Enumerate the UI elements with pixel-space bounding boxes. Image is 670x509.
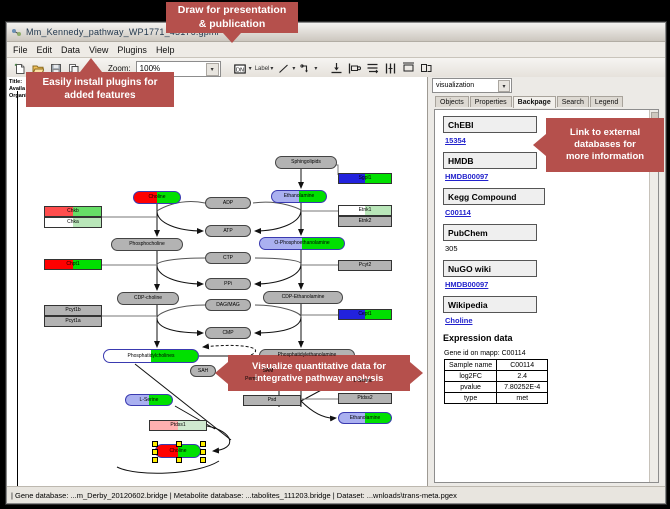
- metabolite-label-adp: ADP: [223, 201, 233, 206]
- metabolite-node-cdpeth[interactable]: CDP-Ethanolamine: [263, 291, 343, 304]
- table-row: pvalue 7.80252E-4: [445, 382, 548, 393]
- gene-id-line: Gene id on mapp: C00114: [444, 350, 650, 357]
- gene-label-pcyt2: Pcyt2: [359, 263, 372, 268]
- pathvisio-icon: [11, 27, 22, 38]
- metabolite-node-ethanolamine[interactable]: Ethanolamine: [271, 190, 327, 203]
- tab-properties[interactable]: Properties: [470, 96, 512, 107]
- status-bar-text: | Gene database: ...m_Derby_20120602.bri…: [11, 491, 457, 500]
- gene-label-sgpl1: Sgpl1: [359, 176, 372, 181]
- menu-bar[interactable]: File Edit Data View Plugins Help: [7, 42, 665, 58]
- callout-plugins: Easily install plugins for added feature…: [26, 72, 174, 107]
- link-kegg[interactable]: C00114: [445, 208, 650, 217]
- metabolite-node-cmp[interactable]: CMP: [205, 327, 251, 339]
- size-common-icon[interactable]: [401, 61, 416, 76]
- metabolite-node-choline_top[interactable]: Choline: [133, 191, 181, 204]
- metabolite-node-sah[interactable]: SAH: [190, 365, 216, 377]
- gene-label-chpt1: Chpt1: [66, 262, 79, 267]
- gene-node-chka[interactable]: Chka: [44, 217, 102, 228]
- expression-data-title: Expression data: [443, 333, 650, 343]
- gene-node-ptdss2[interactable]: Ptdss2: [338, 393, 392, 404]
- line-icon[interactable]: [276, 61, 291, 76]
- selection-handle[interactable]: [176, 441, 182, 447]
- metabolite-node-ptdcholines[interactable]: Phosphatidylcholines: [103, 349, 199, 363]
- gene-label-psd: Psd: [268, 398, 277, 403]
- expr-val-pvalue: 7.80252E-4: [497, 382, 548, 393]
- metabolite-label-sphingolipids: Sphingolipids: [291, 160, 321, 165]
- line-tool[interactable]: ▾: [276, 61, 295, 76]
- chevron-down-icon[interactable]: ▾: [206, 63, 219, 76]
- gene-node-chkb[interactable]: Chkb: [44, 206, 102, 217]
- tab-search[interactable]: Search: [557, 96, 589, 107]
- expr-key-log2fc: log2FC: [445, 371, 497, 382]
- gene-label-etnk2: Etnk2: [359, 219, 372, 224]
- callout-links-line2: databases for: [574, 139, 636, 151]
- metabolite-label-ethanolamine2: Ethanolamine: [350, 416, 381, 421]
- section-header-nugo: NuGO wiki: [443, 260, 537, 277]
- title-bar: Mm_Kennedy_pathway_WP1771_45176.gpml: [7, 23, 665, 42]
- expr-val-sample: C00114: [497, 360, 548, 371]
- section-header-wikipedia: Wikipedia: [443, 296, 537, 313]
- callout-links-line1: Link to external: [570, 127, 640, 139]
- expr-key-pvalue: pvalue: [445, 382, 497, 393]
- chevron-down-icon[interactable]: ▾: [498, 80, 510, 92]
- callout-draw-arrow-icon: [223, 33, 241, 43]
- selection-handle[interactable]: [200, 457, 206, 463]
- label-tool[interactable]: Label ▾: [255, 65, 274, 72]
- metabolite-node-atp[interactable]: ATP: [205, 225, 251, 237]
- visualization-combo-value: visualization: [436, 82, 474, 89]
- metabolite-node-ppi[interactable]: PPi: [205, 278, 251, 290]
- callout-visualize-arrow-right-icon: [410, 362, 423, 384]
- metabolite-label-cmp: CMP: [222, 331, 233, 336]
- metabolite-label-choline_top: Choline: [149, 195, 166, 200]
- metabolite-label-atp: ATP: [223, 229, 232, 234]
- callout-draw-line2: & publication: [199, 18, 266, 31]
- side-panel-tabs[interactable]: Objects Properties Backpage Search Legen…: [428, 94, 665, 107]
- gene-node-chpt1[interactable]: Chpt1: [44, 259, 102, 270]
- metabolite-node-sphingolipids[interactable]: Sphingolipids: [275, 156, 337, 169]
- gene-node-etnk2[interactable]: Etnk2: [338, 216, 392, 227]
- metabolite-label-dagmag: DAG/MAG: [216, 303, 240, 308]
- link-wikipedia[interactable]: Choline: [445, 316, 650, 325]
- table-row: log2FC 2.4: [445, 371, 548, 382]
- metabolite-label-sah: SAH: [198, 369, 208, 374]
- align-left-icon[interactable]: [347, 61, 362, 76]
- callout-draw: Draw for presentation & publication: [166, 2, 298, 33]
- gene-node-cept1[interactable]: Cept1: [338, 309, 392, 320]
- section-header-pubchem: PubChem: [443, 224, 537, 241]
- metabolite-node-phosphocholine[interactable]: Phosphocholine: [111, 238, 183, 251]
- link-hmdb[interactable]: HMDB00097: [445, 172, 650, 181]
- gene-node-psd[interactable]: Psd: [243, 395, 301, 406]
- datanode-tool[interactable]: DN ▾: [233, 61, 252, 76]
- callout-draw-line1: Draw for presentation: [178, 4, 287, 17]
- menu-view[interactable]: View: [89, 45, 108, 55]
- expression-table: Sample name C00114 log2FC 2.4 pvalue 7.8…: [444, 359, 548, 404]
- gene-label-ptdss1: Ptdss1: [170, 423, 185, 428]
- datanode-icon[interactable]: DN: [233, 61, 248, 76]
- menu-plugins[interactable]: Plugins: [117, 45, 147, 55]
- toolbar-separator: [224, 61, 230, 76]
- metabolite-node-dagmag[interactable]: DAG/MAG: [205, 299, 251, 311]
- callout-plugins-line1: Easily install plugins for: [42, 77, 157, 90]
- tab-legend[interactable]: Legend: [590, 96, 623, 107]
- gene-node-pcyt1b[interactable]: Pcyt1b: [44, 305, 102, 316]
- metabolite-node-lserine_l[interactable]: L-Serine: [125, 394, 173, 406]
- gene-node-ptdss1[interactable]: Ptdss1: [149, 420, 207, 431]
- pathway-canvas[interactable]: Title: Availa Organi: [7, 77, 428, 487]
- metabolite-label-lserine_r: L-Serine: [354, 379, 373, 384]
- callout-links: Link to external databases for more info…: [546, 118, 664, 172]
- table-row: Sample name C00114: [445, 360, 548, 371]
- metabolite-label-ctp: CTP: [223, 256, 233, 261]
- selection-handle[interactable]: [152, 457, 158, 463]
- gene-label-ptdss2: Ptdss2: [357, 396, 372, 401]
- menu-file[interactable]: File: [13, 45, 28, 55]
- selection-handle[interactable]: [176, 457, 182, 463]
- section-header-chebi: ChEBI: [443, 116, 537, 133]
- gene-label-pemt: Pemt: [245, 377, 257, 382]
- chevron-down-icon[interactable]: ▾: [249, 65, 252, 72]
- value-pubchem: 305: [445, 244, 650, 253]
- chevron-down-icon[interactable]: ▾: [314, 65, 317, 72]
- gene-node-etnk1[interactable]: Etnk1: [338, 205, 392, 216]
- interaction-icon[interactable]: [298, 61, 313, 76]
- callout-links-line3: more information: [566, 151, 644, 163]
- metabolite-label-ophosphoeth: O-Phosphoethanolamine: [274, 241, 329, 246]
- metabolite-node-ctp[interactable]: CTP: [205, 252, 251, 264]
- section-header-kegg: Kegg Compound: [443, 188, 545, 205]
- gene-label-pcyt1b: Pcyt1b: [65, 308, 80, 313]
- gene-label-chkb: Chkb: [67, 209, 79, 214]
- metabolite-label-phosphocholine: Phosphocholine: [129, 242, 165, 247]
- z-order-icon[interactable]: [419, 61, 434, 76]
- table-row: type met: [445, 393, 548, 404]
- menu-help[interactable]: Help: [156, 45, 175, 55]
- metabolite-label-sam: SAM: [263, 369, 274, 374]
- svg-text:DN: DN: [236, 67, 244, 73]
- toolbar-separator: [320, 61, 326, 76]
- stack-icon[interactable]: [365, 61, 380, 76]
- new-file-icon[interactable]: [12, 61, 27, 76]
- expr-key-type: type: [445, 393, 497, 404]
- metabolite-label-ptdcholines: Phosphatidylcholines: [128, 354, 175, 359]
- selection-handle[interactable]: [152, 449, 158, 455]
- gene-node-sgpl1[interactable]: Sgpl1: [338, 173, 392, 184]
- metabolite-label-choline_sel: Choline: [170, 449, 187, 454]
- callout-links-arrow-icon: [533, 134, 546, 156]
- metabolite-label-cdpcholine: CDP-choline: [134, 296, 162, 301]
- visualization-selector-row[interactable]: visualization ▾: [428, 77, 665, 94]
- expr-val-type: met: [497, 393, 548, 404]
- expr-val-log2fc: 2.4: [497, 371, 548, 382]
- metabolite-label-lserine_l: L-Serine: [140, 398, 159, 403]
- metabolite-node-ethanolamine2[interactable]: Ethanolamine: [338, 412, 392, 424]
- metabolite-label-cdpeth: CDP-Ethanolamine: [282, 295, 325, 300]
- chevron-down-icon[interactable]: ▾: [292, 65, 295, 72]
- callout-visualize: Visualize quantitative data for integrat…: [228, 355, 410, 391]
- selection-handle[interactable]: [152, 441, 158, 447]
- interaction-tool[interactable]: ▾: [298, 61, 317, 76]
- gene-label-etnk1: Etnk1: [359, 208, 372, 213]
- metabolite-label-ptdeth: Phosphatidylethanolamine: [278, 353, 337, 358]
- selection-handle[interactable]: [200, 441, 206, 447]
- callout-plugins-line2: added features: [64, 90, 135, 103]
- metabolite-node-ophosphoeth[interactable]: O-Phosphoethanolamine: [259, 237, 345, 250]
- screenshot-root: Mm_Kennedy_pathway_WP1771_45176.gpml Fil…: [0, 0, 670, 509]
- metabolite-label-ethanolamine: Ethanolamine: [284, 194, 315, 199]
- selection-handle[interactable]: [200, 449, 206, 455]
- metabolite-node-adp[interactable]: ADP: [205, 197, 251, 209]
- visualization-combo[interactable]: visualization ▾: [432, 78, 512, 93]
- gene-label-cept1: Cept1: [358, 312, 371, 317]
- tab-objects[interactable]: Objects: [435, 96, 469, 107]
- callout-visualize-arrow-icon: [215, 362, 228, 384]
- metabolite-label-ppi: PPi: [224, 282, 232, 287]
- menu-data[interactable]: Data: [61, 45, 80, 55]
- label-icon[interactable]: Label: [255, 66, 270, 72]
- align-top-icon[interactable]: [329, 61, 344, 76]
- menu-edit[interactable]: Edit: [37, 45, 53, 55]
- gene-label-chka: Chka: [67, 220, 79, 225]
- gene-node-pcyt1a[interactable]: Pcyt1a: [44, 316, 102, 327]
- callout-plugins-arrow-icon: [80, 58, 102, 72]
- chevron-down-icon[interactable]: ▾: [270, 65, 273, 72]
- status-bar: | Gene database: ...m_Derby_20120602.bri…: [7, 486, 665, 503]
- tab-backpage[interactable]: Backpage: [513, 96, 556, 108]
- section-header-hmdb: HMDB: [443, 152, 537, 169]
- gene-node-pcyt2[interactable]: Pcyt2: [338, 260, 392, 271]
- gene-label-pcyt1a: Pcyt1a: [65, 319, 80, 324]
- expr-key-sample: Sample name: [445, 360, 497, 371]
- distribute-icon[interactable]: [383, 61, 398, 76]
- link-nugo[interactable]: HMDB00097: [445, 280, 650, 289]
- metabolite-node-cdpcholine[interactable]: CDP-choline: [117, 292, 179, 305]
